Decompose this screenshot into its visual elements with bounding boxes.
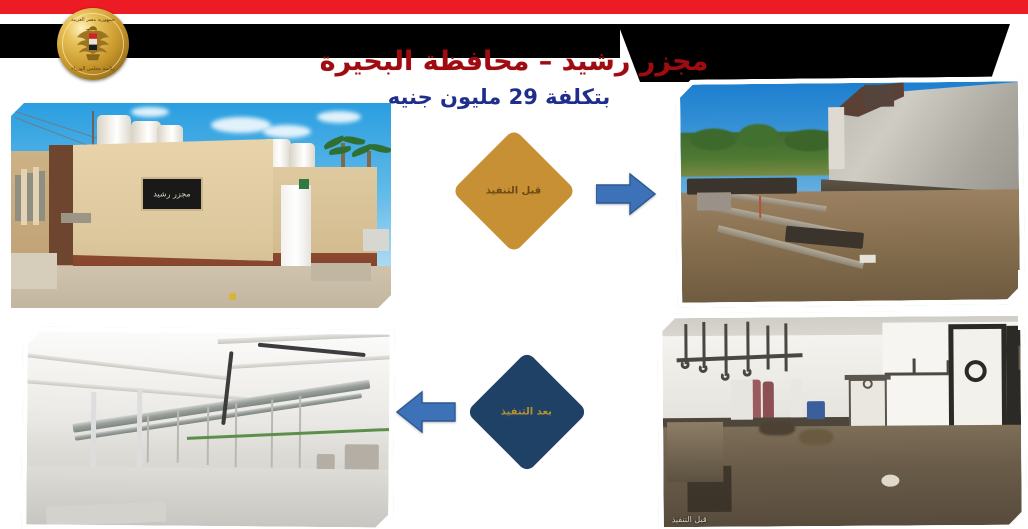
page-subtitle: بتكلفة 29 مليون جنيه <box>0 85 1028 109</box>
signboard: مجزر رشيد <box>141 177 203 211</box>
page-title: مجزر رشيد – محافظة البحيرة <box>0 46 1028 77</box>
emblem-top-text: جمهورية مصر العربية <box>57 17 129 23</box>
rebar <box>759 196 761 218</box>
eagle-icon <box>74 23 112 63</box>
window <box>39 171 45 221</box>
photo-new-abattoir-exterior: مجزر رشيد <box>11 103 391 308</box>
flag-stripe-red <box>0 0 1028 14</box>
hanging-meat <box>1018 346 1021 370</box>
photo-frame-bottom-left[interactable] <box>21 326 395 529</box>
entrance-gate <box>281 185 311 273</box>
meat-hook <box>913 358 916 374</box>
white-basin <box>731 380 753 420</box>
photo-old-interior: قبل التنفيذ <box>662 316 1021 527</box>
floor-wet-patch <box>667 422 723 482</box>
cloud <box>211 117 271 133</box>
utility-pole <box>92 111 94 147</box>
stage-label-after-text: بعد التنفيذ <box>501 407 552 418</box>
meat-hook-curve <box>699 364 708 373</box>
meat-hook-curve <box>743 368 752 377</box>
photo-new-interior-hall <box>26 331 390 527</box>
meat-hook <box>766 326 769 370</box>
stage-label-after[interactable]: بعد التنفيذ <box>466 351 588 473</box>
stage-label-before[interactable]: قبل التنفيذ <box>452 129 576 253</box>
arrow-left-icon <box>396 390 456 434</box>
egyptian-eagle-emblem: جمهورية مصر العربية رئاسة مجلس الوزراء <box>57 8 129 80</box>
photo-frame-top-right[interactable] <box>675 76 1025 308</box>
photo-frame-top-left[interactable]: مجزر رشيد <box>6 98 396 313</box>
column <box>91 392 97 478</box>
rubble <box>11 253 57 289</box>
arrow-right-icon <box>596 172 656 216</box>
green-marker <box>299 179 309 189</box>
photo-old-exterior <box>680 81 1020 303</box>
right-edge-spacer <box>1018 270 1028 330</box>
meat-hook <box>784 323 787 371</box>
cloud <box>317 111 361 123</box>
wall-vent <box>61 213 91 223</box>
rubble <box>311 263 371 281</box>
floor-dirt <box>759 421 795 435</box>
slide-root: جمهورية مصر العربية رئاسة مجلس الوزراء م… <box>0 0 1028 529</box>
blue-bin <box>807 401 825 419</box>
debris-marker <box>229 293 236 300</box>
photo-frame-bottom-right[interactable]: قبل التنفيذ <box>657 311 1027 529</box>
emblem-bottom-text: رئاسة مجلس الوزراء <box>57 66 129 72</box>
wall-pillar <box>828 107 845 169</box>
photo-caption: قبل التنفيذ <box>672 515 707 524</box>
worker <box>763 381 774 417</box>
door-ring-handle <box>965 360 987 382</box>
floor-debris <box>881 475 899 487</box>
column-ring <box>863 379 873 389</box>
flag-stripe-white <box>0 14 1028 24</box>
meat-hook-curve <box>721 372 730 381</box>
cloud <box>263 125 311 138</box>
stage-label-before-text: قبل التنفيذ <box>486 185 541 196</box>
hanger-rod <box>147 414 149 462</box>
block <box>697 192 731 210</box>
pillar <box>21 169 27 225</box>
floor-dirt <box>799 429 833 445</box>
pillar <box>33 167 39 225</box>
meat-hook <box>746 322 749 372</box>
worker <box>791 379 803 417</box>
litter <box>860 255 876 263</box>
signboard-text: مجزر رشيد <box>143 190 201 199</box>
truck <box>363 229 389 251</box>
meat-hook <box>724 324 727 376</box>
